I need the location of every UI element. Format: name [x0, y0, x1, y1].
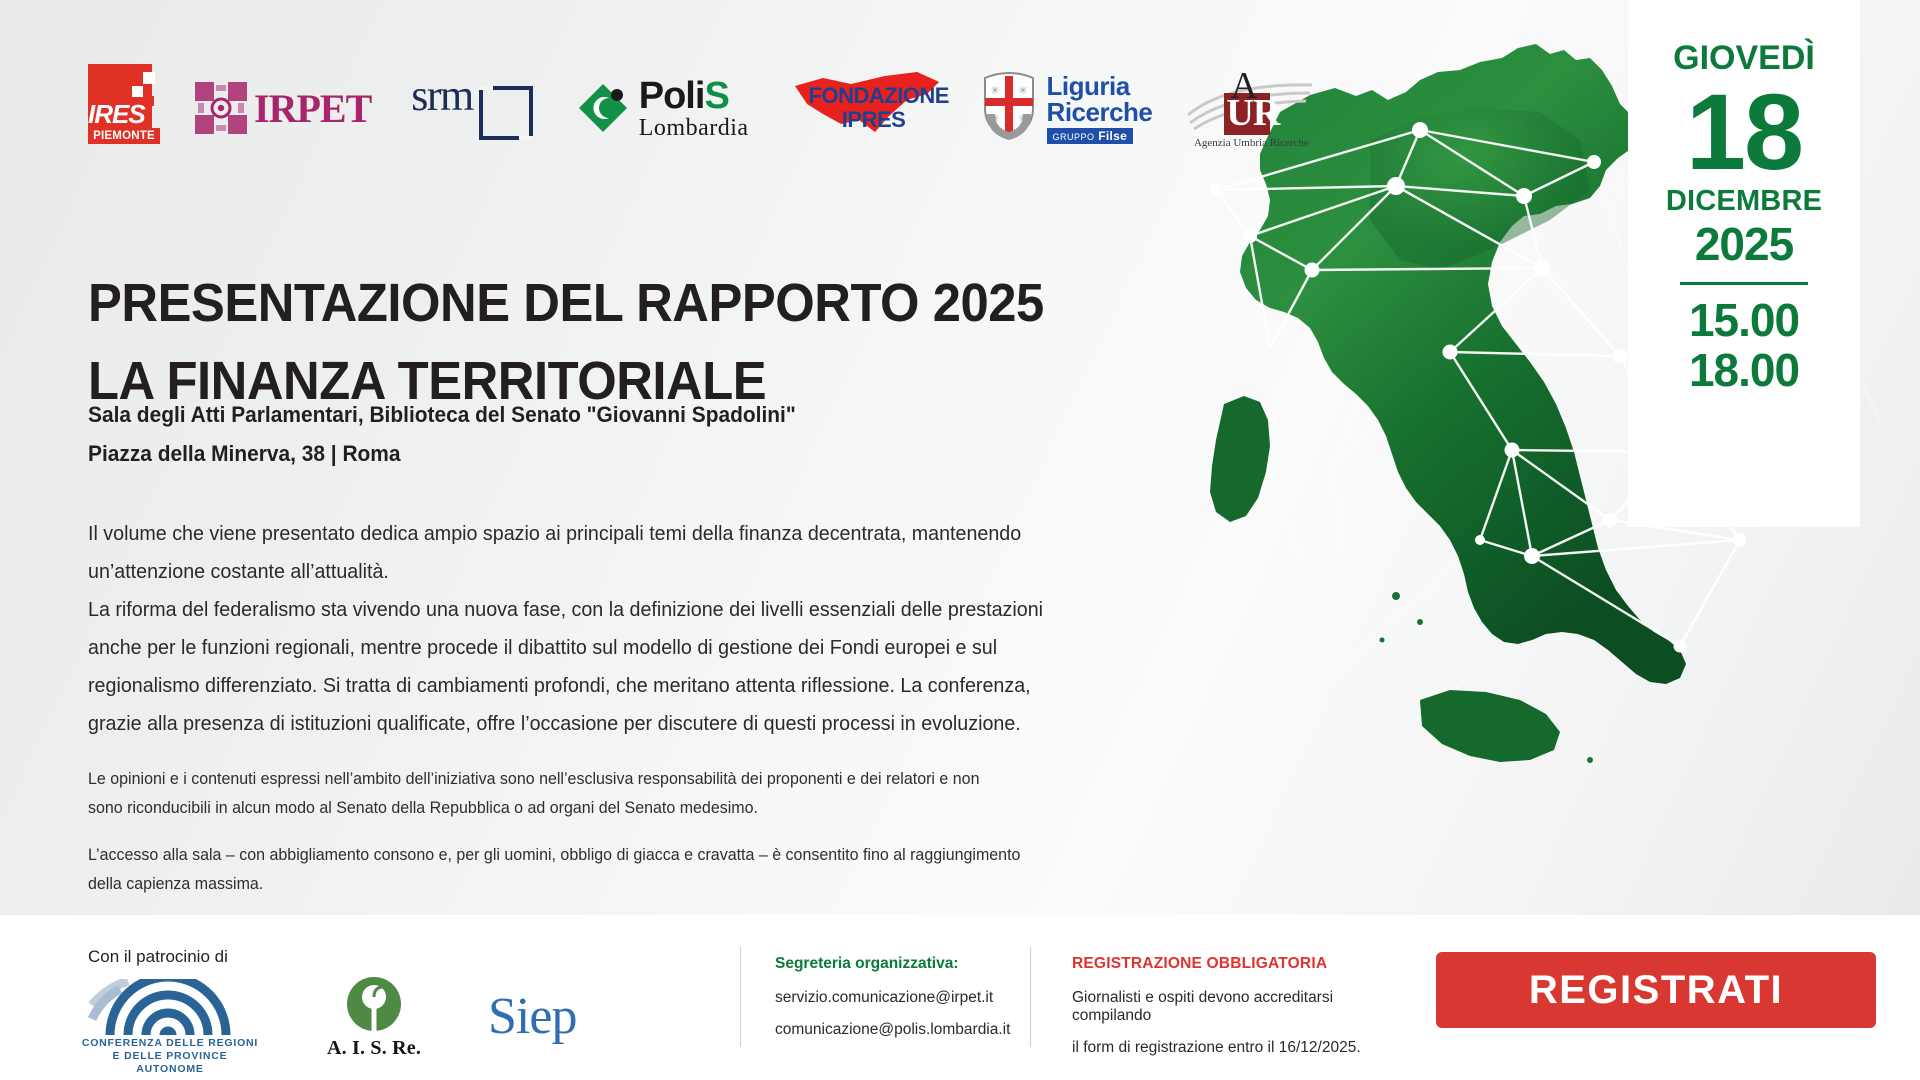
description-p2-line-3: regionalismo differenziato. Si tratta di…: [88, 667, 1144, 705]
description-p2-line-1: La riforma del federalismo sta vivendo u…: [88, 591, 1144, 629]
venue-block: Sala degli Atti Parlamentari, Biblioteca…: [88, 395, 1086, 473]
ires-subtitle: PIEMONTE: [88, 128, 160, 144]
disclaimer-paragraph-1: Le opinioni e i contenuti espressi nell’…: [88, 765, 1174, 823]
aisre-logo: A. I. S. Re.: [314, 977, 434, 1059]
headline-line-1: PRESENTAZIONE DEL RAPPORTO 2025: [88, 264, 1141, 342]
partner-logo-row: IRES PIEMONTE: [88, 58, 1316, 158]
srm-logo: srm: [411, 76, 533, 140]
polis-mark-icon: [577, 82, 629, 134]
description-p1-line-2: un’attenzione costante all’attualità.: [88, 553, 1144, 591]
event-date-card: GIOVEDÌ 18 DICEMBRE 2025 15.00 18.00: [1628, 0, 1860, 527]
ipres-wordmark: FONDAZIONE IPRES: [809, 84, 939, 132]
date-year: 2025: [1695, 218, 1793, 270]
aur-caption: Agenzia Umbria Ricerche: [1186, 137, 1316, 149]
secretariat-title: Segreteria organizzativa:: [775, 955, 1035, 973]
polis-region-label: Lombardia: [639, 116, 749, 140]
conferenza-line-1: CONFERENZA DELLE REGIONI: [80, 1037, 260, 1050]
polis-lombardia-logo: PoliS Lombardia: [577, 77, 749, 140]
description-p2-line-4: grazie alla presenza di istituzioni qual…: [88, 705, 1144, 743]
polis-wordmark: PoliS: [639, 77, 749, 115]
secretariat-email-2[interactable]: comunicazione@polis.lombardia.it: [775, 1021, 1035, 1039]
liguria-ricerche-logo: ✳✳ ✳✳ Liguria Ricerche GRUPPO Filse: [979, 68, 1153, 149]
aisre-mark-icon: [314, 977, 434, 1035]
disclaimer-paragraph-2: L’accesso alla sala – con abbigliamento …: [88, 841, 1174, 899]
aur-a-letter: A: [1230, 69, 1257, 103]
srm-wordmark: srm: [411, 76, 473, 116]
fondazione-ipres-logo: FONDAZIONE IPRES: [789, 70, 949, 146]
ipres-line-1: FONDAZIONE: [809, 83, 949, 108]
date-divider: [1680, 282, 1808, 285]
description-paragraph-1: Il volume che viene presentato dedica am…: [88, 515, 1144, 591]
time-start: 15.00: [1689, 295, 1799, 345]
disclaimer-p1-line-1: Le opinioni e i contenuti espressi nell’…: [88, 765, 1174, 794]
poster-root: IRES PIEMONTE: [0, 0, 1920, 1080]
aur-logo: UR A Agenzia Umbria Ricerche: [1186, 63, 1316, 153]
liguria-badge-big: Filse: [1098, 129, 1127, 143]
main-area: IRES PIEMONTE: [0, 0, 1920, 915]
description-paragraph-2: La riforma del federalismo sta vivendo u…: [88, 591, 1144, 743]
irpet-wordmark: IRPET: [254, 85, 371, 132]
venue-line-2: Piazza della Minerva, 38 | Roma: [88, 434, 1086, 473]
liguria-line-2: Ricerche: [1047, 99, 1153, 125]
secretariat-block: Segreteria organizzativa: servizio.comun…: [775, 955, 1035, 1053]
ires-dot-1: [143, 72, 155, 84]
polis-word-main: Poli: [639, 75, 705, 117]
conferenza-regioni-text: CONFERENZA DELLE REGIONI E DELLE PROVINC…: [80, 1037, 260, 1076]
polis-text: PoliS Lombardia: [639, 77, 749, 140]
siep-wordmark: Siep: [488, 989, 618, 1045]
liguria-filse-badge: GRUPPO Filse: [1047, 128, 1134, 144]
disclaimer-p2-line-1: L’accesso alla sala – con abbigliamento …: [88, 841, 1174, 870]
description-block: Il volume che viene presentato dedica am…: [88, 515, 1144, 743]
irpet-mark-icon: [194, 81, 248, 135]
date-month: DICEMBRE: [1666, 184, 1822, 218]
liguria-line-1: Liguria: [1047, 73, 1153, 99]
description-p1-line-1: Il volume che viene presentato dedica am…: [88, 515, 1144, 553]
date-day: 18: [1686, 80, 1802, 184]
register-button[interactable]: REGISTRATI: [1436, 952, 1876, 1028]
irpet-logo: IRPET: [194, 81, 371, 135]
patrocinio-label: Con il patrocinio di: [88, 947, 228, 967]
venue-line-1: Sala degli Atti Parlamentari, Biblioteca…: [88, 395, 1086, 434]
conferenza-regioni-logo: CONFERENZA DELLE REGIONI E DELLE PROVINC…: [80, 979, 260, 1059]
patrocinio-logo-row: CONFERENZA DELLE REGIONI E DELLE PROVINC…: [80, 977, 618, 1059]
description-p2-line-2: anche per le funzioni regionali, mentre …: [88, 629, 1144, 667]
svg-text:✳: ✳: [990, 85, 999, 97]
ipres-line-2: IPRES: [809, 108, 939, 132]
aisre-wordmark: A. I. S. Re.: [314, 1037, 434, 1060]
time-end: 18.00: [1689, 345, 1799, 395]
registration-line-2: il form di registrazione entro il 16/12/…: [1072, 1039, 1412, 1057]
svg-text:✳: ✳: [1018, 85, 1027, 97]
ires-piemonte-logo: IRES PIEMONTE: [88, 64, 160, 152]
registration-title: REGISTRAZIONE OBBLIGATORIA: [1072, 955, 1412, 973]
secretariat-email-1[interactable]: servizio.comunicazione@irpet.it: [775, 989, 1035, 1007]
conferenza-line-2: E DELLE PROVINCE AUTONOME: [80, 1050, 260, 1076]
srm-square-icon: [479, 86, 533, 140]
ires-dot-2: [132, 86, 143, 97]
siep-logo: Siep: [488, 989, 618, 1059]
ires-wordmark: IRES: [88, 102, 154, 127]
liguria-shield-icon: ✳✳ ✳✳: [979, 68, 1039, 149]
polis-word-accent: S: [704, 75, 728, 117]
registration-line-1: Giornalisti e ospiti devono accreditarsi…: [1072, 989, 1412, 1025]
disclaimer-p2-line-2: della capienza massima.: [88, 870, 1174, 899]
conferenza-arcs-icon: [80, 979, 260, 1039]
liguria-text-block: Liguria Ricerche GRUPPO Filse: [1047, 73, 1153, 144]
registration-info-block: REGISTRAZIONE OBBLIGATORIA Giornalisti e…: [1072, 955, 1412, 1071]
liguria-badge-small: GRUPPO: [1053, 132, 1095, 142]
disclaimer-p1-line-2: sono riconducibili in alcun modo al Sena…: [88, 794, 1174, 823]
disclaimer-block: Le opinioni e i contenuti espressi nell’…: [88, 765, 1174, 915]
footer-divider-1: [740, 947, 741, 1047]
